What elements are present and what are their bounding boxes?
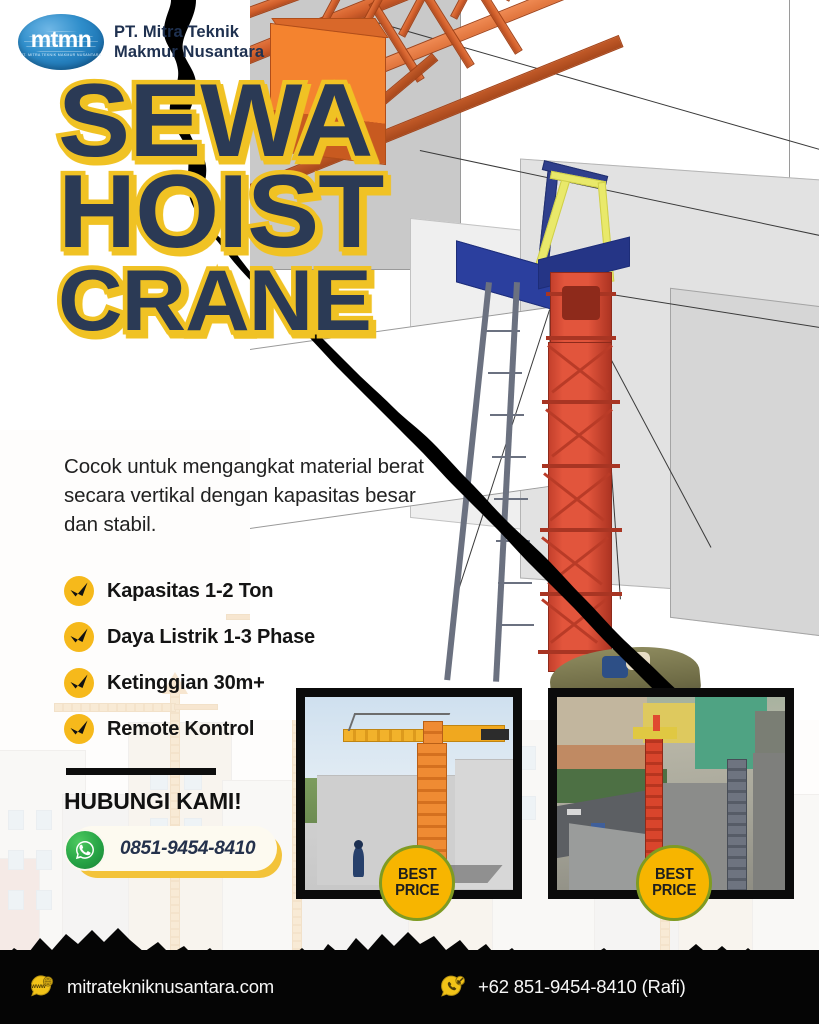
photo-person — [353, 847, 364, 877]
feature-label: Daya Listrik 1-3 Phase — [107, 626, 315, 649]
feature-label: Kapasitas 1-2 Ton — [107, 580, 273, 603]
company-name-line2: Makmur Nusantara — [114, 42, 264, 62]
logo-wordmark: mtmn — [31, 28, 92, 51]
feature-item: Remote Kontrol — [64, 706, 315, 752]
page-title: SEWA HOIST CRANE — [58, 78, 371, 337]
contact-heading: HUBUNGI KAMI! — [64, 788, 242, 815]
phone-call-icon — [439, 973, 467, 1001]
footer-contact-row: www mitratekniknusantara.com +62 851-945… — [0, 950, 819, 1024]
footer-phone-item[interactable]: +62 851-9454-8410 (Rafi) — [439, 973, 686, 1001]
whatsapp-icon[interactable] — [64, 829, 106, 871]
badge-line-1: BEST — [398, 867, 437, 883]
company-name-line1: PT. Mitra Teknik — [114, 22, 264, 42]
phone-number: 0851-9454-8410 — [120, 838, 255, 860]
check-icon — [64, 714, 94, 744]
footer-website-item[interactable]: www mitratekniknusantara.com — [28, 973, 274, 1001]
poster-root: mtmn PT. MITRA TEKNIK MAKMUR NUSANTARA P… — [0, 0, 819, 1024]
check-glyph — [69, 674, 89, 692]
check-icon — [64, 622, 94, 652]
feature-item: Daya Listrik 1-3 Phase — [64, 614, 315, 660]
check-glyph — [69, 720, 89, 738]
photo-gray-mast — [727, 759, 747, 890]
whatsapp-glyph — [74, 839, 96, 861]
photo-structure — [753, 753, 785, 890]
badge-line-1: BEST — [655, 867, 694, 883]
photo-crane-counterweight — [481, 729, 509, 740]
check-icon — [64, 668, 94, 698]
check-icon — [64, 576, 94, 606]
title-line-2: HOIST — [58, 169, 383, 256]
check-glyph — [69, 628, 89, 646]
photo-hoist-tip — [653, 715, 660, 731]
check-glyph — [69, 582, 89, 600]
feature-label: Ketinggian 30m+ — [107, 672, 265, 695]
company-name: PT. Mitra Teknik Makmur Nusantara — [114, 22, 264, 62]
photo-building — [557, 697, 647, 751]
badge-line-2: PRICE — [652, 883, 696, 899]
photo-person-head — [354, 840, 363, 849]
feature-list: Kapasitas 1-2 Ton Daya Listrik 1-3 Phase… — [64, 568, 315, 752]
title-line-3: CRANE — [58, 265, 383, 337]
logo-tagline: PT. MITRA TEKNIK MAKMUR NUSANTARA — [21, 53, 102, 57]
brand-logo-row: mtmn PT. MITRA TEKNIK MAKMUR NUSANTARA P… — [18, 14, 264, 70]
feature-item: Kapasitas 1-2 Ton — [64, 568, 315, 614]
photo-crane-tie — [348, 713, 451, 731]
feature-item: Ketinggian 30m+ — [64, 660, 315, 706]
svg-text:www: www — [30, 983, 46, 990]
footer-phone-text: +62 851-9454-8410 (Rafi) — [478, 976, 686, 998]
feature-label: Remote Kontrol — [107, 718, 254, 741]
mtmn-logo-icon: mtmn PT. MITRA TEKNIK MAKMUR NUSANTARA — [18, 14, 104, 70]
footer-website-text: mitratekniknusantara.com — [67, 976, 274, 998]
render-load-detail — [602, 656, 628, 678]
section-divider — [66, 768, 216, 775]
photo-car — [567, 809, 581, 815]
render-panel — [670, 288, 819, 643]
render-load-detail — [626, 652, 650, 670]
badge-line-2: PRICE — [395, 883, 439, 899]
title-line-1: SEWA — [58, 78, 383, 165]
www-globe-glyph: www — [28, 973, 56, 1001]
description-text: Cocok untuk mengangkat material berat se… — [64, 452, 424, 539]
phone-call-glyph — [439, 973, 467, 1001]
www-globe-icon: www — [28, 973, 56, 1001]
